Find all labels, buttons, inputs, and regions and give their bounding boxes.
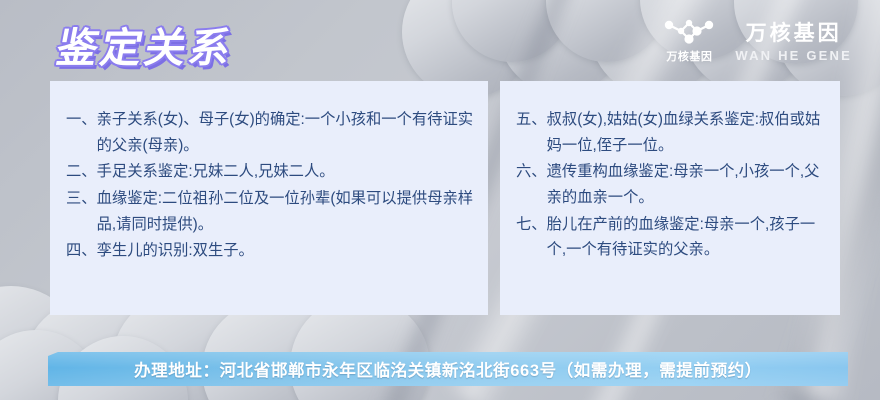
list-item: 七、 胎儿在产前的血缘鉴定:母亲一个,孩子一个,一个有待证实的父亲。 xyxy=(516,212,826,263)
brand-mark: 万核基因 xyxy=(661,16,717,64)
list-item: 一、 亲子关系(女)、母子(女)的确定:一个小孩和一个有待证实的父亲(母亲)。 xyxy=(66,107,474,158)
list-item: 四、 孪生儿的识别:双生子。 xyxy=(66,238,474,264)
list-item-index: 三、 xyxy=(66,186,97,212)
list-item-text: 遗传重构血缘鉴定:母亲一个,小孩一个,父亲的血亲一个。 xyxy=(547,159,826,210)
list-item-index: 六、 xyxy=(516,159,547,185)
background-disc xyxy=(498,0,626,94)
list-item-index: 二、 xyxy=(66,159,97,185)
brand-wordmark: 万核基因 WAN HE GENE xyxy=(735,17,852,63)
relation-list-right: 五、 叔叔(女),姑姑(女)血绿关系鉴定:叔伯或姑妈一位,侄子一位。 六、 遗传… xyxy=(516,107,826,263)
list-item-text: 叔叔(女),姑姑(女)血绿关系鉴定:叔伯或姑妈一位,侄子一位。 xyxy=(547,107,826,158)
background-disc xyxy=(546,0,668,62)
content-panels: 一、 亲子关系(女)、母子(女)的确定:一个小孩和一个有待证实的父亲(母亲)。 … xyxy=(0,81,880,315)
brand-mark-label: 万核基因 xyxy=(666,48,712,64)
brand-name-cn: 万核基因 xyxy=(746,17,842,47)
page-title: 鉴定关系 xyxy=(52,14,240,74)
list-item-text: 胎儿在产前的血缘鉴定:母亲一个,孩子一个,一个有待证实的父亲。 xyxy=(547,212,826,263)
list-item-index: 七、 xyxy=(516,212,547,238)
list-item-text: 亲子关系(女)、母子(女)的确定:一个小孩和一个有待证实的父亲(母亲)。 xyxy=(97,107,474,158)
list-item-text: 手足关系鉴定:兄妹二人,兄妹二人。 xyxy=(97,159,474,185)
brand-name-en: WAN HE GENE xyxy=(735,48,852,63)
brand-logo: 万核基因 万核基因 WAN HE GENE xyxy=(661,16,852,64)
list-item-text: 血缘鉴定:二位祖孙二位及一位孙辈(如果可以提供母亲样品,请同时提供)。 xyxy=(97,186,474,237)
background-disc xyxy=(452,0,572,62)
list-item-index: 五、 xyxy=(516,107,547,133)
list-item-index: 一、 xyxy=(66,107,97,133)
molecule-network-icon xyxy=(661,16,717,46)
list-item: 五、 叔叔(女),姑姑(女)血绿关系鉴定:叔伯或姑妈一位,侄子一位。 xyxy=(516,107,826,158)
panel-left: 一、 亲子关系(女)、母子(女)的确定:一个小孩和一个有待证实的父亲(母亲)。 … xyxy=(50,81,488,315)
list-item-text: 孪生儿的识别:双生子。 xyxy=(97,238,474,264)
list-item: 六、 遗传重构血缘鉴定:母亲一个,小孩一个,父亲的血亲一个。 xyxy=(516,159,826,210)
address-ribbon: 办理地址：河北省邯郸市永年区临洺关镇新洺北街663号（如需办理，需提前预约） xyxy=(48,352,848,386)
address-text: 办理地址：河北省邯郸市永年区临洺关镇新洺北街663号（如需办理，需提前预约） xyxy=(48,352,848,386)
list-item: 三、 血缘鉴定:二位祖孙二位及一位孙辈(如果可以提供母亲样品,请同时提供)。 xyxy=(66,186,474,237)
poster-canvas: 鉴定关系 xyxy=(0,0,880,400)
list-item: 二、 手足关系鉴定:兄妹二人,兄妹二人。 xyxy=(66,159,474,185)
relation-list-left: 一、 亲子关系(女)、母子(女)的确定:一个小孩和一个有待证实的父亲(母亲)。 … xyxy=(66,107,474,264)
list-item-index: 四、 xyxy=(66,238,97,264)
panel-right: 五、 叔叔(女),姑姑(女)血绿关系鉴定:叔伯或姑妈一位,侄子一位。 六、 遗传… xyxy=(500,81,840,315)
